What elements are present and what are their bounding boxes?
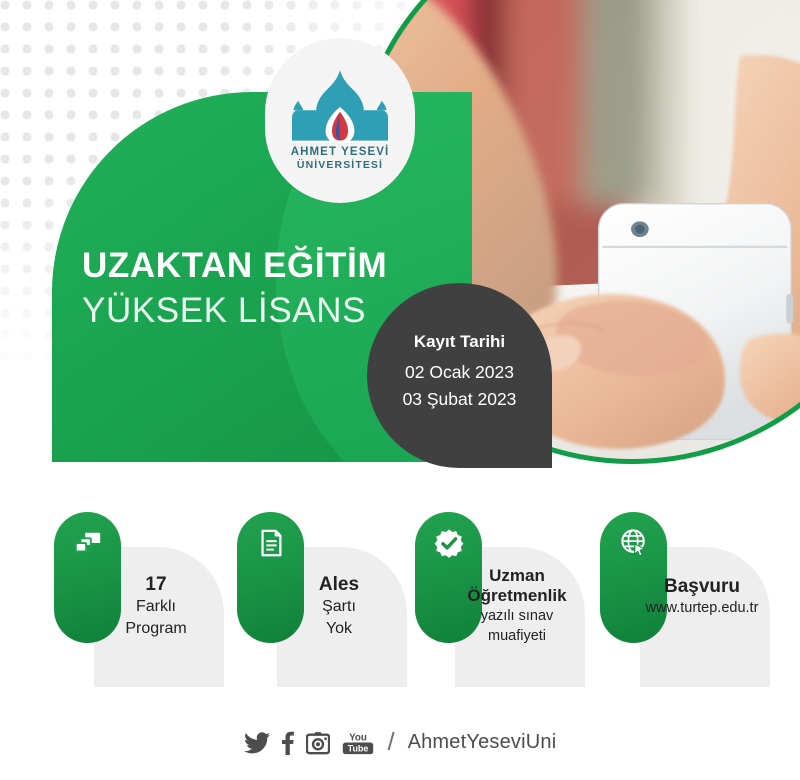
feature-card-row: 17 Farklı Program Ales Şartı Yok [0,512,800,692]
feature-card-uzman: Uzman Öğretmenlik yazılı sınav muafiyeti [413,512,591,687]
card-sub-line-2: muafiyeti [441,627,593,646]
mosque-flame-logo-icon [292,70,388,144]
card-sub-line-1: Şartı [263,597,415,618]
card-headline: Uzman [441,566,593,586]
document-icon [256,528,286,558]
instagram-icon[interactable] [306,731,330,755]
card-sub-line-2: Program [80,619,232,640]
social-footer: You Tube / AhmetYeseviUni [0,728,800,757]
logo-text-line-2: ÜNİVERSİTESİ [297,159,383,171]
card-sub-line-1: yazılı sınav [441,607,593,626]
footer-handle: AhmetYeseviUni [408,731,557,754]
youtube-icon[interactable]: You Tube [341,730,375,756]
twitter-icon[interactable] [244,732,270,754]
card-text: 17 Farklı Program [80,574,232,640]
card-text: Ales Şartı Yok [263,574,415,640]
windows-stack-icon [73,528,103,558]
svg-text:Tube: Tube [347,743,368,753]
poster-root: UZAKTAN EĞİTİM YÜKSEK LİSANS AHMET YESEV… [0,0,800,780]
feature-card-basvuru: Başvuru www.turtep.edu.tr [598,512,776,687]
logo-text-line-1: AHMET YESEVİ [291,146,390,158]
card-headline-2: Öğretmenlik [441,586,593,606]
registration-date-blob: Kayıt Tarihi 02 Ocak 2023 03 Şubat 2023 [367,283,552,468]
headline-line-1: UZAKTAN EĞİTİM [82,248,387,285]
feature-card-ales: Ales Şartı Yok [235,512,413,687]
footer-separator: / [388,728,395,757]
university-logo-badge: AHMET YESEVİ ÜNİVERSİTESİ [265,38,415,203]
registration-start-date: 02 Ocak 2023 [405,359,514,386]
feature-card-programs: 17 Farklı Program [52,512,230,687]
registration-end-date: 03 Şubat 2023 [403,386,517,413]
card-headline: 17 [80,574,232,596]
headline-block: UZAKTAN EĞİTİM YÜKSEK LİSANS [82,248,387,333]
card-text: Başvuru www.turtep.edu.tr [626,576,778,618]
registration-title: Kayıt Tarihi [414,332,505,352]
svg-text:You: You [349,732,367,743]
card-sub-line-2: Yok [263,619,415,640]
card-headline: Başvuru [626,576,778,598]
facebook-icon[interactable] [281,731,295,755]
headline-line-2: YÜKSEK LİSANS [82,289,387,333]
card-sub-line-1: Farklı [80,597,232,618]
card-sub-line-1: www.turtep.edu.tr [626,599,778,618]
verified-check-badge-icon [434,528,464,558]
globe-cursor-icon [619,528,649,558]
card-headline: Ales [263,574,415,596]
card-text: Uzman Öğretmenlik yazılı sınav muafiyeti [441,566,593,646]
